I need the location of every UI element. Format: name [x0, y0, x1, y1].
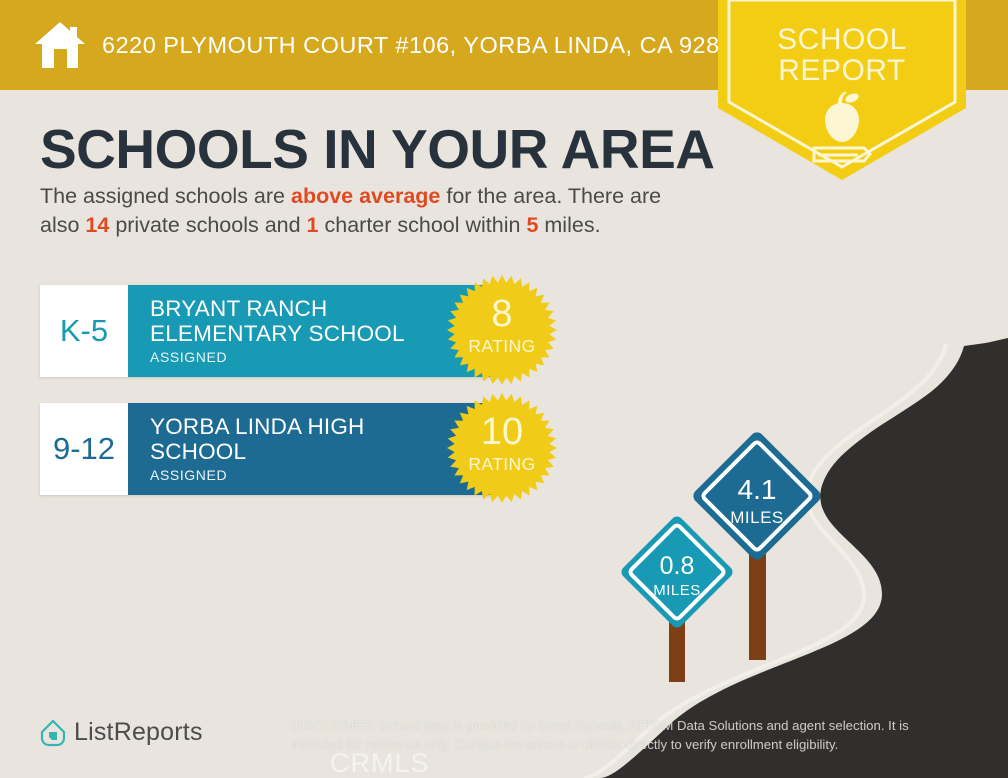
badge-title: SCHOOL REPORT — [718, 24, 966, 86]
sign-distance-value: 0.8 — [618, 554, 736, 579]
rating-label: RATING — [447, 454, 557, 475]
subhead-highlight-private-count: 14 — [85, 213, 109, 237]
school-report-badge: SCHOOL REPORT — [718, 0, 966, 180]
school-report-page: 6220 PLYMOUTH COURT #106, YORBA LINDA, C… — [0, 0, 1008, 778]
rating-value: 10 — [447, 413, 557, 451]
school-name: YORBA LINDA HIGH SCHOOL — [150, 414, 440, 464]
subhead-part-1: The assigned schools are — [40, 184, 291, 208]
subhead-highlight-radius: 5 — [526, 213, 538, 237]
listreports-house-icon — [40, 719, 66, 747]
header-address: 6220 PLYMOUTH COURT #106, YORBA LINDA, C… — [102, 32, 747, 59]
rating-label: RATING — [447, 336, 557, 357]
subhead-part-3: private schools and — [109, 213, 306, 237]
sign-distance-unit: MILES — [618, 582, 736, 599]
grade-range-label: K-5 — [60, 313, 108, 349]
school-name: BRYANT RANCH ELEMENTARY SCHOOL — [150, 296, 440, 346]
rating-badge: 10 RATING — [447, 393, 557, 503]
subhead-highlight-above-average: above average — [291, 184, 440, 208]
listreports-logo-text: ListReports — [74, 718, 203, 747]
grade-range-label: 9-12 — [53, 431, 115, 467]
rating-value: 8 — [447, 295, 557, 333]
badge-title-line2: REPORT — [718, 55, 966, 86]
subhead-highlight-charter-count: 1 — [307, 213, 319, 237]
listreports-logo[interactable]: ListReports — [40, 718, 203, 747]
grade-range-box: 9-12 — [40, 403, 128, 495]
subhead-text: The assigned schools are above average f… — [40, 182, 700, 240]
sign-distance-value: 4.1 — [688, 476, 826, 504]
badge-title-line1: SCHOOL — [718, 24, 966, 55]
grade-range-box: K-5 — [40, 285, 128, 377]
subhead-part-4: charter school within — [319, 213, 527, 237]
crmls-watermark: CRMLS — [330, 748, 430, 778]
school-row[interactable]: 9-12 YORBA LINDA HIGH SCHOOL ASSIGNED — [40, 403, 510, 495]
school-row[interactable]: K-5 BRYANT RANCH ELEMENTARY SCHOOL ASSIG… — [40, 285, 510, 377]
rating-badge: 8 RATING — [447, 275, 557, 385]
subhead-part-5: miles. — [538, 213, 600, 237]
page-title: SCHOOLS IN YOUR AREA — [40, 118, 715, 180]
distance-sign: 0.8 MILES — [618, 512, 736, 682]
house-icon — [32, 19, 88, 71]
